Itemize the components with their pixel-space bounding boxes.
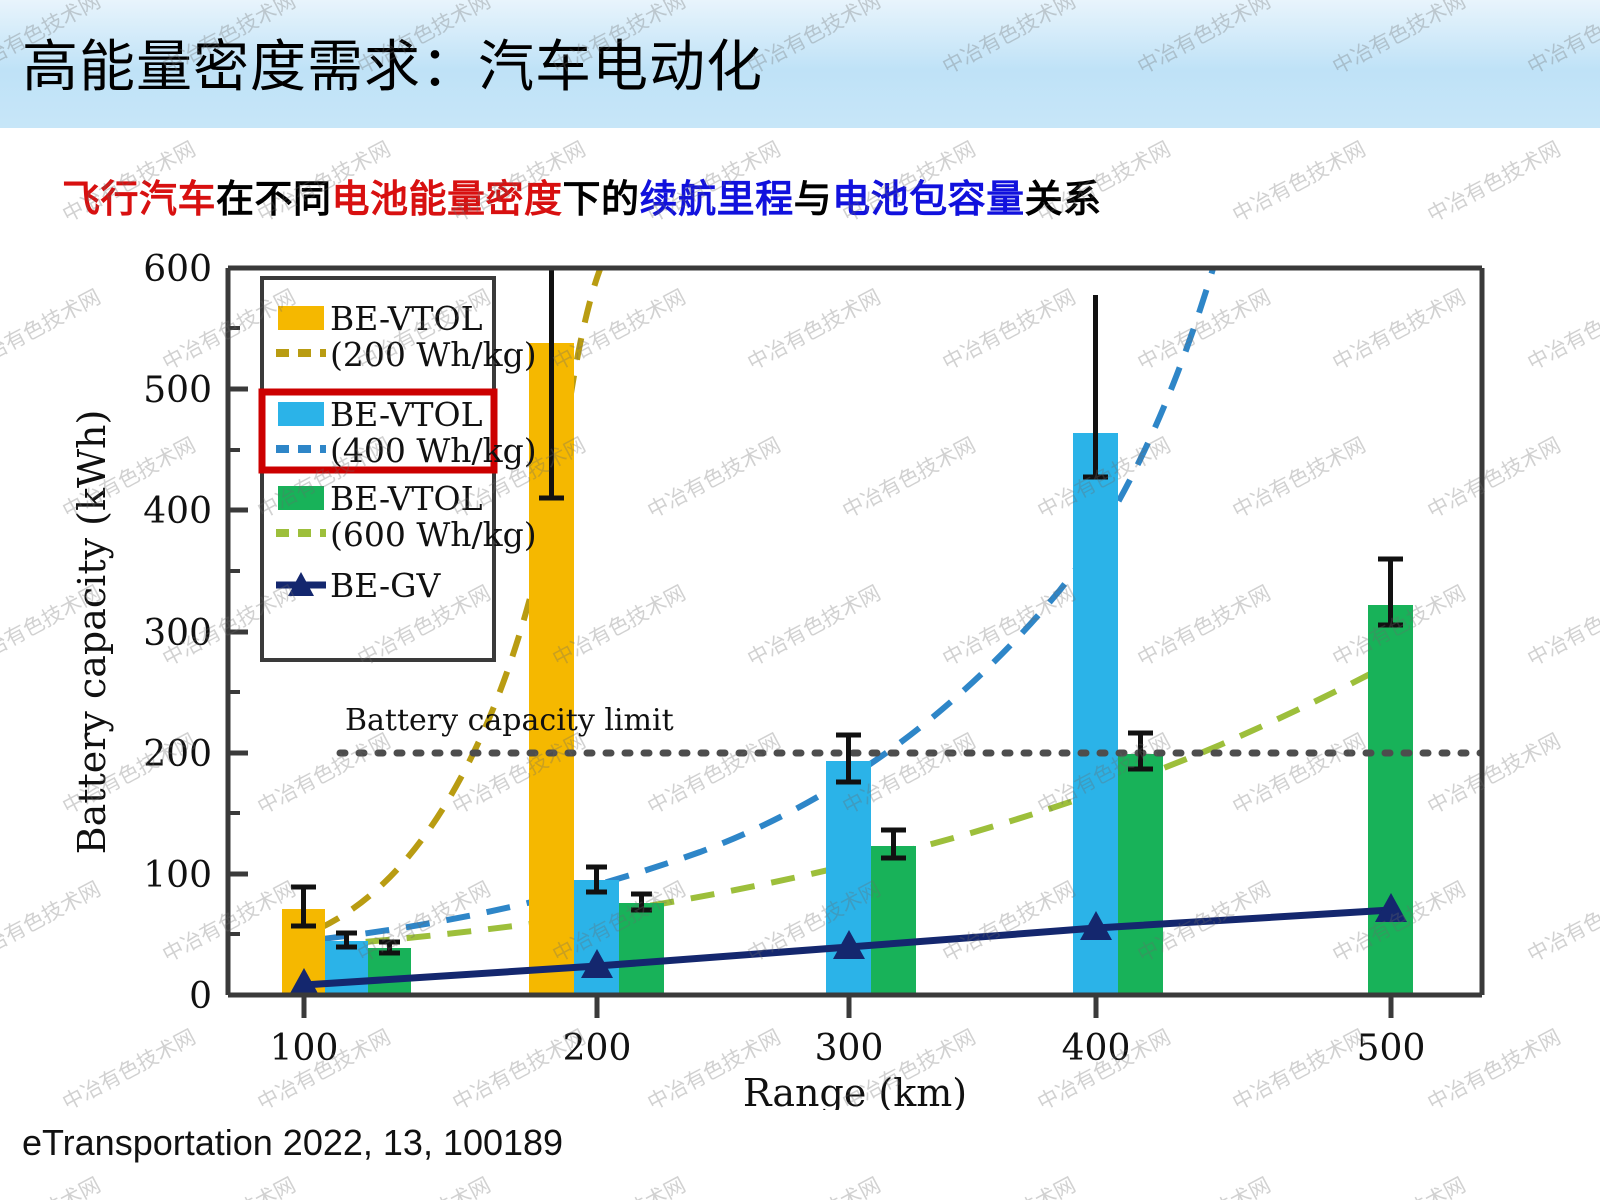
bar-400whkg-400km: [1073, 433, 1118, 995]
watermark-text: 中冶有色技术网: [0, 1169, 105, 1200]
legend-swatch-200whkg: [278, 306, 324, 330]
page-title: 高能量密度需求：汽车电动化: [22, 22, 763, 103]
subtitle-segment-under-different: 在不同: [216, 177, 332, 221]
svg-text:100: 100: [143, 855, 212, 896]
legend-label-600whkg-line2: (600 Wh/kg): [330, 515, 537, 554]
chart-figure: Battery capacity limit: [0, 240, 1600, 1110]
slide-subtitle: 飞行汽车在不同电池能量密度下的续航里程与电池包容量关系: [62, 168, 1102, 223]
svg-text:400: 400: [143, 491, 212, 532]
y-axis-tick-labels: 0 100 200 300 400 500 600: [143, 249, 212, 1017]
watermark-text: 中冶有色技术网: [1132, 1169, 1276, 1200]
subtitle-segment-energy-density: 电池能量密度: [332, 177, 563, 221]
subtitle-segment-flying-car: 飞行汽车: [62, 177, 216, 221]
subtitle-segment-of: 下的: [563, 177, 640, 221]
chart-legend: BE-VTOL (200 Wh/kg) BE-VTOL (400 Wh/kg) …: [262, 278, 537, 660]
watermark-text: 中冶有色技术网: [937, 1169, 1081, 1200]
legend-label-200whkg-line2: (200 Wh/kg): [330, 335, 537, 374]
bar-600whkg-500km: [1368, 605, 1413, 995]
watermark-text: 中冶有色技术网: [157, 1169, 301, 1200]
legend-swatch-400whkg: [278, 402, 324, 426]
svg-text:500: 500: [1357, 1028, 1426, 1069]
legend-label-200whkg-line1: BE-VTOL: [330, 299, 483, 338]
watermark-text: 中冶有色技术网: [1227, 133, 1371, 229]
svg-text:200: 200: [563, 1028, 632, 1069]
bar-600whkg-400km: [1118, 754, 1163, 995]
svg-text:300: 300: [815, 1028, 884, 1069]
y-axis-title: Battery capacity (kWh): [70, 410, 114, 855]
watermark-text: 中冶有色技术网: [742, 1169, 886, 1200]
watermark-text: 中冶有色技术网: [1327, 1169, 1471, 1200]
watermark-text: 中冶有色技术网: [547, 1169, 691, 1200]
watermark-text: 中冶有色技术网: [352, 1169, 496, 1200]
svg-text:300: 300: [143, 613, 212, 654]
battery-capacity-limit-label: Battery capacity limit: [345, 703, 674, 738]
legend-label-400whkg-line1: BE-VTOL: [330, 395, 483, 434]
legend-label-be-gv: BE-GV: [330, 566, 441, 605]
subtitle-segment-range: 续航里程: [640, 177, 794, 221]
svg-text:600: 600: [143, 249, 212, 290]
subtitle-segment-and: 与: [794, 177, 833, 221]
legend-label-600whkg-line1: BE-VTOL: [330, 479, 483, 518]
subtitle-segment-pack-capacity: 电池包容量: [832, 177, 1025, 221]
svg-text:100: 100: [270, 1028, 339, 1069]
svg-text:500: 500: [143, 370, 212, 411]
x-axis-ticks: [304, 995, 1391, 1018]
bar-600whkg-300km: [871, 846, 916, 995]
bar-600whkg-200km: [619, 903, 664, 995]
watermark-text: 中冶有色技术网: [1522, 1169, 1600, 1200]
svg-text:200: 200: [143, 734, 212, 775]
x-axis-title: Range (km): [743, 1071, 967, 1110]
x-axis-tick-labels: 100 200 300 400 500: [270, 1028, 1426, 1069]
legend-label-400whkg-line2: (400 Wh/kg): [330, 431, 537, 470]
citation-text: eTransportation 2022, 13, 100189: [22, 1122, 563, 1164]
bar-400whkg-300km: [826, 761, 871, 995]
subtitle-segment-relation: 关系: [1025, 177, 1102, 221]
svg-text:400: 400: [1062, 1028, 1131, 1069]
legend-swatch-600whkg: [278, 486, 324, 510]
svg-text:0: 0: [189, 976, 212, 1017]
watermark-text: 中冶有色技术网: [1422, 133, 1566, 229]
